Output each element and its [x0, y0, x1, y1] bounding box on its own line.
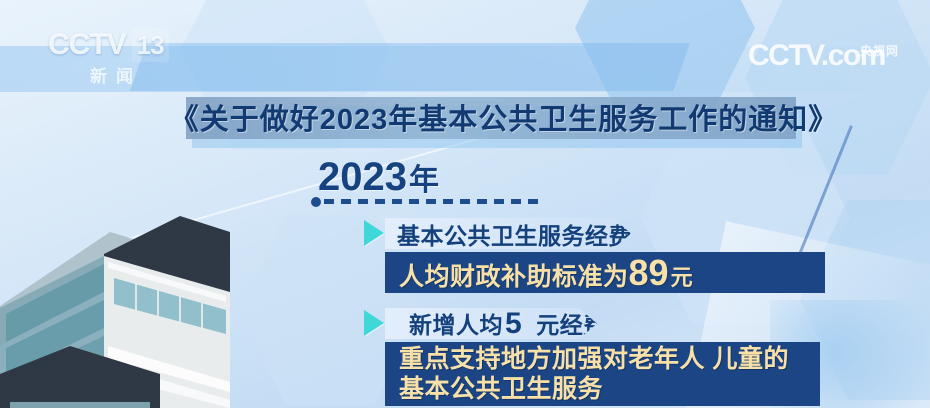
broadcast-graphic: CCTV 13 新闻 CCTV.com 央视网 《关于做好2023年基本公共卫生… [0, 0, 930, 408]
item-2-body-line1: 重点支持地方加强对老年人 儿童的 [399, 344, 789, 374]
year-underline [311, 197, 541, 206]
item-1-tag: 基本公共卫生服务经费 [385, 218, 631, 249]
channel-logo-number: 13 [132, 28, 169, 62]
background-band [130, 43, 690, 91]
item-1-tag-text: 基本公共卫生服务经费 [397, 217, 632, 251]
item-2-body: 重点支持地方加强对老年人 儿童的 基本公共卫生服务 [385, 342, 820, 406]
item-2-tag-number: 5 [505, 307, 522, 340]
headline-text: 《关于做好2023年基本公共卫生服务工作的通知》 [194, 94, 814, 140]
year-unit: 年 [409, 164, 439, 197]
underline-dot [311, 197, 321, 207]
building-illustration [0, 196, 230, 408]
item-2-body-line2: 基本公共卫生服务 [399, 374, 603, 404]
underline-dashes [324, 199, 541, 204]
year-text: 2023年 [318, 156, 439, 202]
play-triangle-icon [364, 310, 384, 336]
channel-logo-text: CCTV [48, 28, 126, 62]
item-1-prefix: 人均财政补助标准为 [399, 263, 629, 291]
channel-logo: CCTV 13 新闻 [48, 28, 178, 88]
channel-logo-subtitle: 新闻 [48, 62, 178, 87]
item-2-tag-text: 新增人均5元经费 [397, 306, 607, 341]
item-1-unit: 元 [671, 265, 694, 290]
channel-logo-row: CCTV 13 [48, 28, 178, 62]
play-triangle-icon [364, 220, 384, 246]
site-watermark: CCTV.com 央视网 [748, 40, 918, 85]
item-1-body-text: 人均财政补助标准为89元 [399, 252, 693, 294]
item-2-tag: 新增人均5元经费 [385, 308, 597, 339]
year-label: 2023年 [318, 156, 439, 202]
site-watermark-cn: 央视网 [860, 42, 899, 59]
item-1-body: 人均财政补助标准为89元 [385, 252, 825, 293]
item-2-tag-prefix: 新增人均 [409, 312, 503, 338]
item-1-number: 89 [629, 252, 669, 293]
year-value: 2023 [318, 155, 407, 199]
